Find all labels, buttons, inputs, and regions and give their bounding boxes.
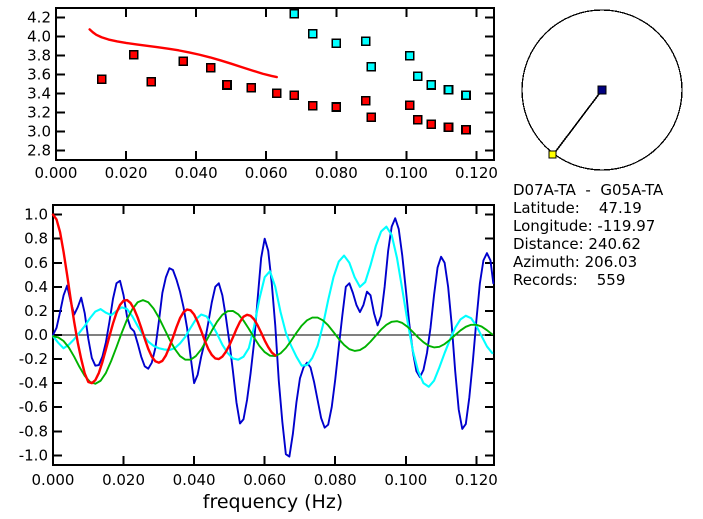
data-point-marker bbox=[367, 113, 375, 121]
data-point-marker bbox=[207, 64, 215, 72]
lower-y-tick-label: 0.8 bbox=[24, 230, 48, 248]
lower-x-tick-label: 0.040 bbox=[173, 471, 216, 489]
upper-x-tick-label: 0.120 bbox=[455, 164, 498, 182]
data-point-marker bbox=[462, 91, 470, 99]
lower-y-tick-label: -0.2 bbox=[19, 350, 48, 368]
data-point-marker bbox=[462, 126, 470, 134]
seismic-figure: 2.83.03.23.43.63.84.04.2 0.0000.0200.040… bbox=[0, 0, 703, 519]
data-point-marker bbox=[309, 30, 317, 38]
upper-x-tick-label: 0.000 bbox=[35, 164, 78, 182]
station-edge-marker bbox=[549, 151, 556, 158]
lower-x-tick-label: 0.000 bbox=[32, 471, 75, 489]
data-point-marker bbox=[223, 81, 231, 89]
lower-x-tick-label: 0.100 bbox=[384, 471, 427, 489]
lower-plot-x-tick-labels: 0.0000.0200.0400.0600.0800.1000.120 bbox=[32, 471, 498, 489]
upper-y-tick-label: 3.0 bbox=[27, 123, 51, 141]
upper-y-tick-label: 3.8 bbox=[27, 47, 51, 65]
info-panel: D07A-TA - G05A-TA Latitude: 47.19 Longit… bbox=[513, 181, 664, 289]
data-point-marker bbox=[332, 103, 340, 111]
data-point-marker bbox=[414, 72, 422, 80]
records-row: Records: 559 bbox=[513, 271, 625, 289]
data-point-marker bbox=[309, 102, 317, 110]
upper-x-tick-label: 0.060 bbox=[245, 164, 288, 182]
data-point-marker bbox=[362, 37, 370, 45]
x-axis-label: frequency (Hz) bbox=[203, 491, 343, 513]
lower-y-tick-label: 0.4 bbox=[24, 278, 48, 296]
lower-x-tick-label: 0.120 bbox=[455, 471, 498, 489]
upper-x-tick-label: 0.100 bbox=[385, 164, 428, 182]
azimuth-row: Azimuth: 206.03 bbox=[513, 253, 637, 271]
station-center-marker bbox=[598, 86, 606, 94]
data-point-marker bbox=[367, 63, 375, 71]
data-point-marker bbox=[427, 81, 435, 89]
lower-y-tick-label: -1.0 bbox=[19, 446, 48, 464]
latitude-row: Latitude: 47.19 bbox=[513, 199, 642, 217]
data-point-marker bbox=[414, 116, 422, 124]
lower-y-tick-label: -0.8 bbox=[19, 422, 48, 440]
data-point-marker bbox=[147, 78, 155, 86]
upper-y-tick-label: 3.6 bbox=[27, 66, 51, 84]
upper-y-tick-label: 4.0 bbox=[27, 28, 51, 46]
lower-y-tick-label: -0.4 bbox=[19, 374, 48, 392]
upper-plot-x-tick-labels: 0.0000.0200.0400.0600.0800.1000.120 bbox=[35, 164, 498, 182]
data-point-marker bbox=[98, 75, 106, 83]
data-point-marker bbox=[290, 91, 298, 99]
station-pair-title: D07A-TA - G05A-TA bbox=[513, 181, 664, 199]
longitude-row: Longitude: -119.97 bbox=[513, 217, 655, 235]
upper-y-tick-label: 3.2 bbox=[27, 104, 51, 122]
data-point-marker bbox=[427, 120, 435, 128]
upper-y-tick-label: 2.8 bbox=[27, 142, 51, 160]
data-point-marker bbox=[362, 97, 370, 105]
lower-y-tick-label: 0.0 bbox=[24, 326, 48, 344]
lower-y-tick-label: 0.6 bbox=[24, 254, 48, 272]
lower-y-tick-label: -0.6 bbox=[19, 398, 48, 416]
upper-x-tick-label: 0.020 bbox=[105, 164, 148, 182]
upper-plot-y-tick-labels: 2.83.03.23.43.63.84.04.2 bbox=[27, 9, 51, 160]
figure-root: 2.83.03.23.43.63.84.04.2 0.0000.0200.040… bbox=[0, 0, 703, 519]
upper-x-tick-label: 0.080 bbox=[315, 164, 358, 182]
data-point-marker bbox=[332, 39, 340, 47]
lower-plot-y-tick-labels: -1.0-0.8-0.6-0.4-0.20.00.20.40.60.81.0 bbox=[19, 206, 48, 465]
data-point-marker bbox=[406, 101, 414, 109]
data-point-marker bbox=[273, 89, 281, 97]
lower-plot-panel: -1.0-0.8-0.6-0.4-0.20.00.20.40.60.81.0 0… bbox=[19, 205, 498, 513]
data-point-marker bbox=[130, 51, 138, 59]
upper-y-tick-label: 3.4 bbox=[27, 85, 51, 103]
upper-y-tick-label: 4.2 bbox=[27, 9, 51, 27]
data-point-marker bbox=[290, 10, 298, 18]
data-point-marker bbox=[406, 52, 414, 60]
data-point-marker bbox=[444, 86, 452, 94]
data-point-marker bbox=[444, 123, 452, 131]
lower-x-tick-label: 0.020 bbox=[102, 471, 145, 489]
azimuth-circle-diagram bbox=[522, 10, 682, 170]
data-point-marker bbox=[247, 84, 255, 92]
distance-row: Distance: 240.62 bbox=[513, 235, 641, 253]
lower-y-tick-label: 0.2 bbox=[24, 302, 48, 320]
upper-x-tick-label: 0.040 bbox=[175, 164, 218, 182]
lower-x-tick-label: 0.080 bbox=[314, 471, 357, 489]
lower-y-tick-label: 1.0 bbox=[24, 206, 48, 224]
data-point-marker bbox=[179, 57, 187, 65]
lower-x-tick-label: 0.060 bbox=[243, 471, 286, 489]
upper-plot-panel: 2.83.03.23.43.63.84.04.2 0.0000.0200.040… bbox=[27, 8, 498, 182]
